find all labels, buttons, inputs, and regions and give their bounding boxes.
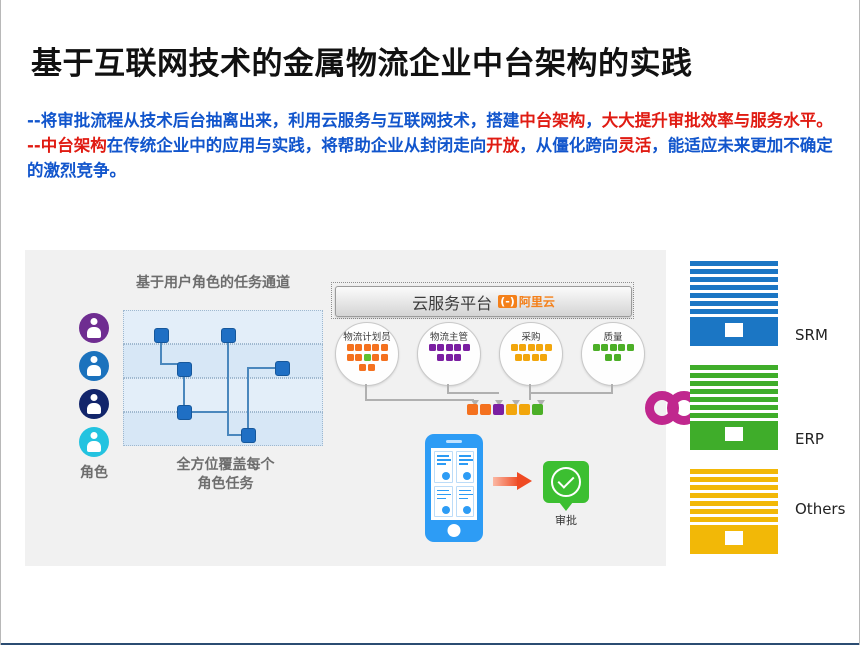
- lane-row-3: [123, 378, 323, 412]
- flow-arrow-icon: [493, 472, 533, 490]
- role-group-dots: [587, 344, 639, 363]
- task-dot: [429, 344, 436, 351]
- role-group-label: 物流计划员: [336, 329, 398, 343]
- task-node-1: [154, 328, 169, 343]
- approval-label: 审批: [531, 512, 601, 528]
- flow-arrow-head: [517, 472, 532, 490]
- lane-link-7: [247, 367, 275, 369]
- system-label-others: Others: [795, 500, 845, 518]
- phone-home-button-icon: [448, 524, 461, 537]
- system-block-button-icon: [725, 531, 743, 545]
- task-dot: [446, 354, 453, 361]
- task-dot: [437, 344, 444, 351]
- merged-task-square: [480, 404, 491, 415]
- cloud-platform-label: 云服务平台: [412, 290, 492, 314]
- task-node-4: [177, 405, 192, 420]
- task-dot: [364, 354, 371, 361]
- merged-task-square: [532, 404, 543, 415]
- lane-row-2: [123, 344, 323, 378]
- role-avatar-navy-icon: [79, 389, 109, 419]
- coverage-label-line-1: 全方位覆盖每个: [133, 456, 318, 475]
- task-dot: [347, 354, 354, 361]
- aliyun-mark-icon: (-): [498, 295, 517, 308]
- task-dot: [454, 354, 461, 361]
- task-dot: [381, 344, 388, 351]
- task-dot: [610, 344, 617, 351]
- task-dot: [536, 344, 543, 351]
- task-dot: [545, 344, 552, 351]
- task-dot: [519, 344, 526, 351]
- task-card: [434, 451, 453, 483]
- role-label: 角色: [65, 462, 123, 482]
- system-block-srm[interactable]: [690, 258, 778, 346]
- task-card: [456, 451, 475, 483]
- body-p1-part-a: --将审批流程从技术后台抽离出来，利用云服务与互联网技术，搭建: [27, 111, 519, 130]
- task-card: [434, 486, 453, 518]
- role-channel-heading: 基于用户角色的任务通道: [103, 272, 323, 292]
- task-dot: [372, 354, 379, 361]
- task-channel-lanes: [123, 310, 323, 446]
- task-dot: [515, 354, 522, 361]
- merged-task-square: [493, 404, 504, 415]
- system-block-lines: [690, 466, 778, 528]
- role-avatar-blue-icon: [79, 351, 109, 381]
- phone-speaker-icon: [446, 440, 462, 443]
- role-group-label: 物流主管: [418, 329, 480, 343]
- task-dot: [454, 344, 461, 351]
- aliyun-logo: (-) 阿里云: [498, 293, 555, 310]
- task-dot: [381, 354, 388, 361]
- body-paragraph-1: --将审批流程从技术后台抽离出来，利用云服务与互联网技术，搭建中台架构，大大提升…: [27, 108, 845, 133]
- task-dot: [364, 344, 371, 351]
- role-group-label: 采购: [500, 329, 562, 343]
- task-dot: [368, 364, 375, 371]
- lane-row-4: [123, 412, 323, 446]
- role-group-dots: [341, 344, 393, 373]
- role-group-purchasing[interactable]: 采购: [499, 322, 563, 386]
- role-group-dots: [505, 344, 557, 363]
- task-node-3: [177, 362, 192, 377]
- task-node-6: [241, 428, 256, 443]
- coverage-label: 全方位覆盖每个 角色任务: [133, 456, 318, 494]
- body-p1-part-b: ，: [585, 111, 602, 130]
- merged-task-squares: [467, 404, 543, 415]
- role-group-logistics-planner[interactable]: 物流计划员: [335, 322, 399, 386]
- role-group-quality[interactable]: 质量: [581, 322, 645, 386]
- task-dot: [463, 344, 470, 351]
- system-block-erp[interactable]: [690, 362, 778, 450]
- system-label-srm: SRM: [795, 326, 828, 344]
- task-dot: [437, 354, 444, 361]
- system-label-erp: ERP: [795, 430, 824, 448]
- task-dot: [446, 344, 453, 351]
- circle-connector-h-2: [447, 392, 499, 394]
- task-dot: [627, 344, 634, 351]
- system-block-button-icon: [725, 323, 743, 337]
- circle-connector-v-1: [365, 384, 367, 400]
- body-p1-highlight-2: 大大提升审批效率与服务水平。: [602, 111, 833, 130]
- mobile-phone-icon: [425, 434, 483, 542]
- task-dot: [532, 354, 539, 361]
- system-block-lines: [690, 258, 778, 320]
- architecture-diagram: 基于用户角色的任务通道: [25, 250, 851, 566]
- task-dot: [355, 344, 362, 351]
- task-dot: [618, 344, 625, 351]
- approval-check-icon: [543, 461, 589, 503]
- circle-connector-h-1: [365, 399, 474, 401]
- task-dot: [540, 354, 547, 361]
- task-dot: [511, 344, 518, 351]
- task-dot: [601, 344, 608, 351]
- task-card: [456, 486, 475, 518]
- role-avatar-purple-icon: [79, 313, 109, 343]
- lane-link-6: [227, 334, 229, 435]
- task-dot: [528, 344, 535, 351]
- body-p2-highlight-3: 灵活: [618, 136, 651, 155]
- system-block-button-icon: [725, 427, 743, 441]
- body-paragraph-2: --中台架构在传统企业中的应用与实践，将帮助企业从封闭走向开放，从僵化跨向灵活，…: [27, 133, 845, 183]
- task-node-2: [221, 328, 236, 343]
- body-p1-highlight-1: 中台架构: [519, 111, 585, 130]
- body-p2-highlight-1: --中台架构: [27, 136, 107, 155]
- role-group-dots: [423, 344, 475, 363]
- merged-task-square: [467, 404, 478, 415]
- task-dot: [614, 354, 621, 361]
- role-group-logistics-manager[interactable]: 物流主管: [417, 322, 481, 386]
- circle-connector-h-3: [529, 392, 613, 394]
- merged-task-square: [506, 404, 517, 415]
- role-avatar-list: [79, 313, 109, 465]
- task-dot: [372, 344, 379, 351]
- phone-screen: [431, 448, 477, 520]
- page-title: 基于互联网技术的金属物流企业中台架构的实践: [31, 38, 693, 83]
- body-p2-highlight-2: 开放: [486, 136, 519, 155]
- role-group-label: 质量: [582, 329, 644, 343]
- cloud-platform-bar[interactable]: 云服务平台 (-) 阿里云: [335, 286, 632, 317]
- slide: 基于互联网技术的金属物流企业中台架构的实践 --将审批流程从技术后台抽离出来，利…: [1, 0, 859, 645]
- flow-arrow-shaft: [493, 477, 519, 486]
- task-dot: [355, 354, 362, 361]
- body-text: --将审批流程从技术后台抽离出来，利用云服务与互联网技术，搭建中台架构，大大提升…: [27, 108, 845, 183]
- system-block-lines: [690, 362, 778, 424]
- task-dot: [605, 354, 612, 361]
- coverage-label-line-2: 角色任务: [133, 475, 318, 494]
- body-p2-part-a: 在传统企业中的应用与实践，将帮助企业从封闭走向: [107, 136, 487, 155]
- task-node-5: [275, 361, 290, 376]
- system-block-others[interactable]: [690, 466, 778, 554]
- lane-link-8: [247, 367, 249, 435]
- merged-task-square: [519, 404, 530, 415]
- aliyun-name: 阿里云: [519, 293, 555, 310]
- task-dot: [359, 364, 366, 371]
- task-dot: [347, 344, 354, 351]
- task-dot: [593, 344, 600, 351]
- role-avatar-cyan-icon: [79, 427, 109, 457]
- body-p2-part-b: ，从僵化跨向: [519, 136, 618, 155]
- task-dot: [523, 354, 530, 361]
